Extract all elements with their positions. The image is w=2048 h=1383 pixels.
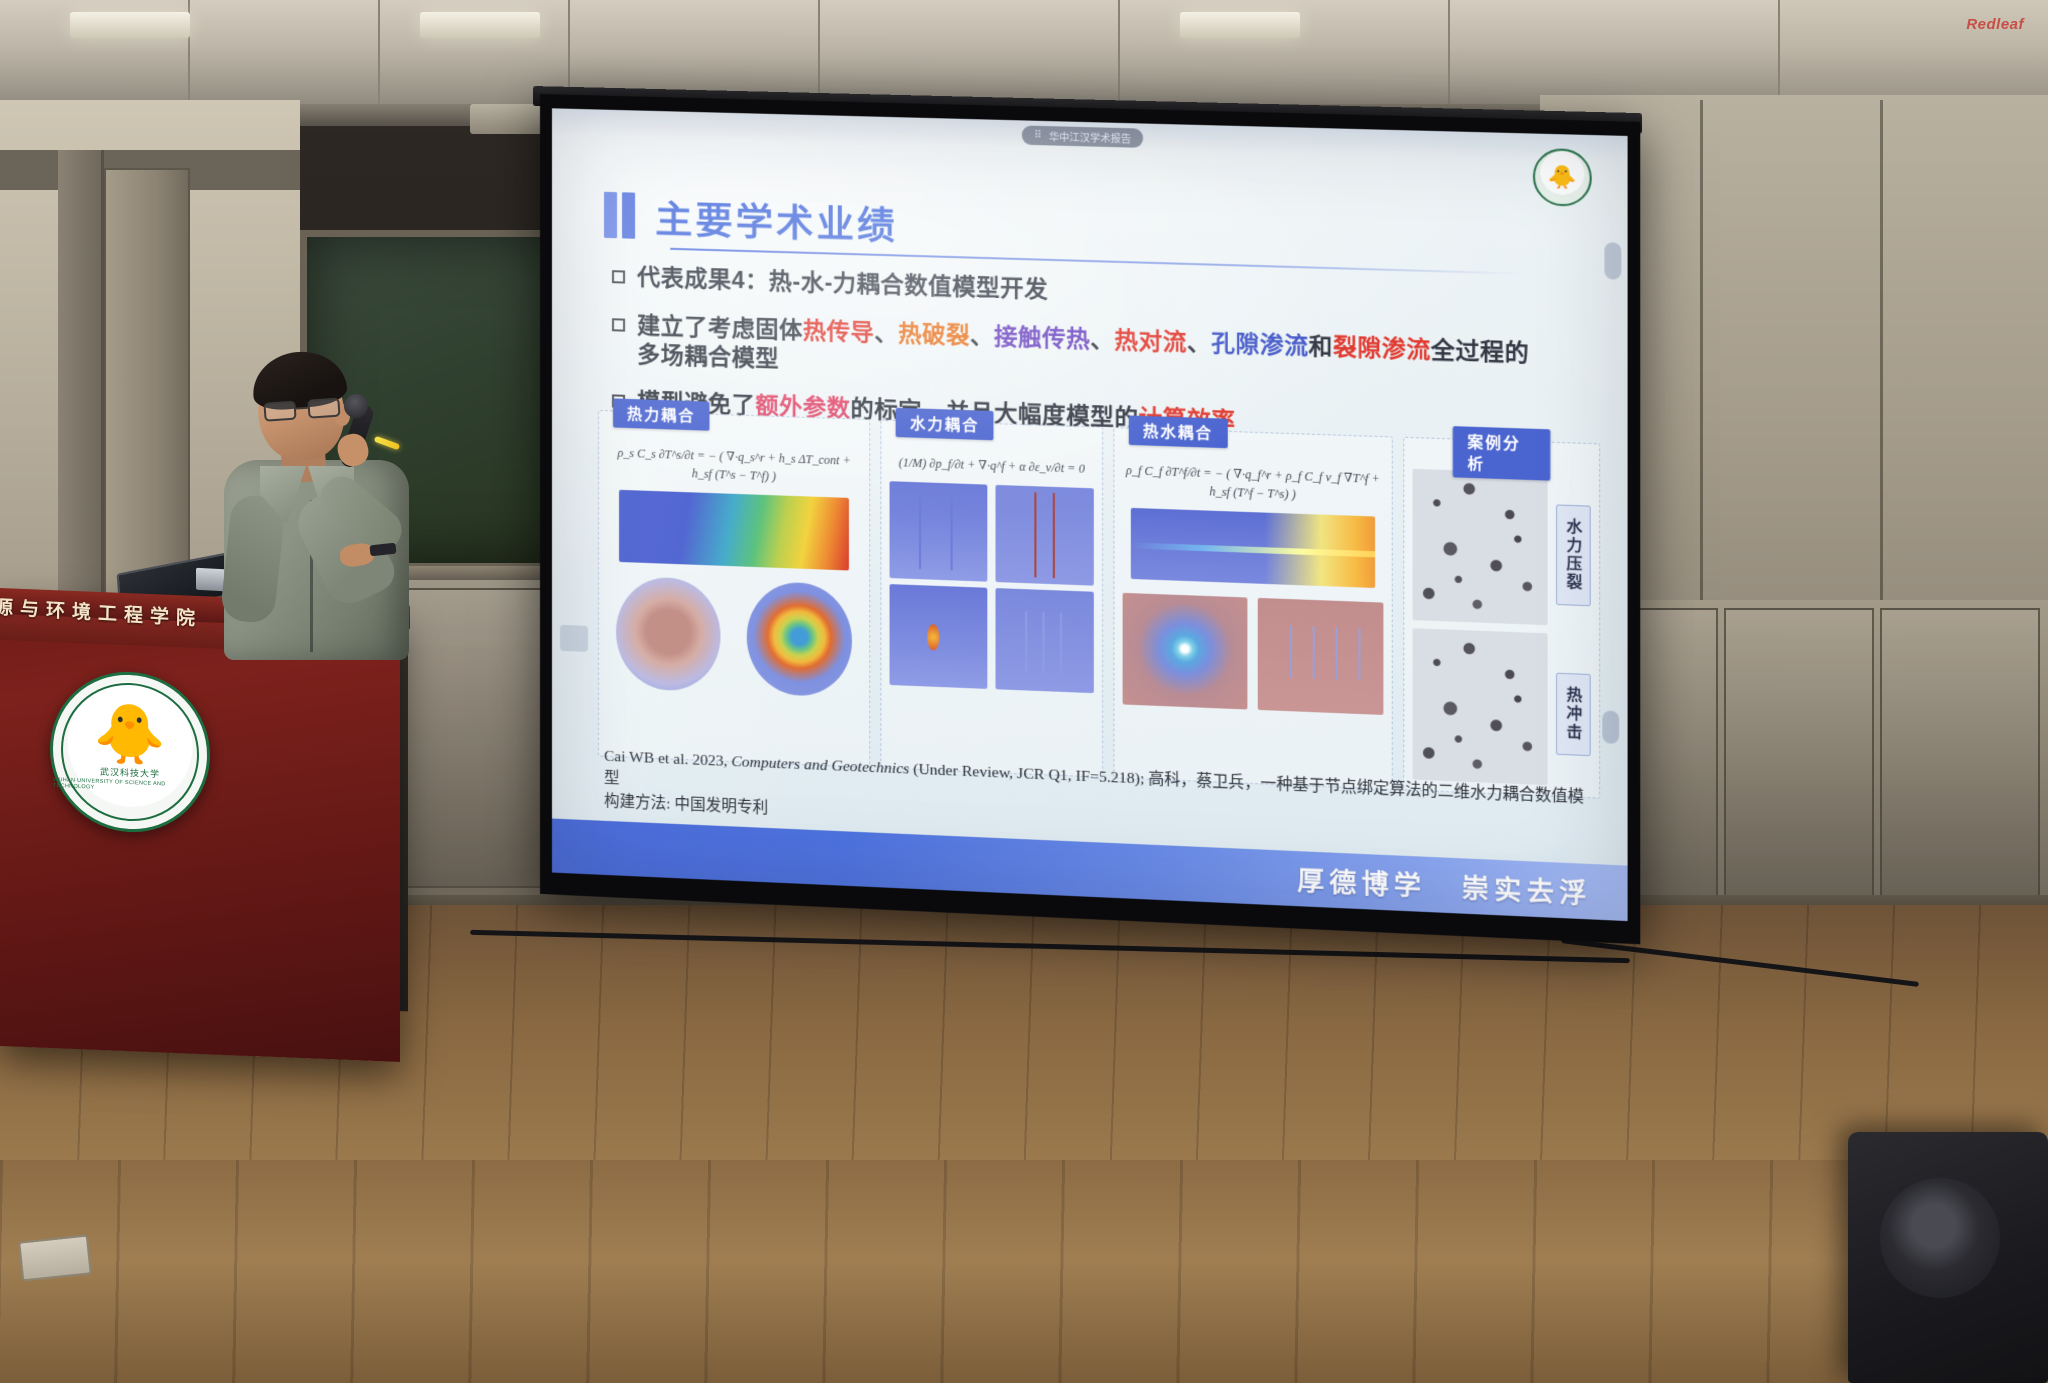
university-crest-icon: 🐥 <box>1533 148 1592 207</box>
bullet-item-2: 建立了考虑固体热传导、热破裂、接触传热、热对流、孔隙渗流和裂隙渗流全过程的多场耦… <box>612 310 1546 398</box>
figure-ellipse-stress <box>616 576 721 692</box>
panel-tag: 热水耦合 <box>1129 415 1228 448</box>
cabinet-door[interactable] <box>1880 608 2040 918</box>
bullet-text-run: 代表成果4：热-水-力耦合数值模型开发 <box>637 264 1048 303</box>
citation-line-2: 构建方法: 中国发明专利 <box>604 792 768 816</box>
panel-thermo-mechanical: 热力耦合 ρ_s C_s ∂T^s/∂t = − ( ∇·q_s^r + h_s… <box>598 410 871 768</box>
figure-fracture-network <box>996 588 1094 693</box>
figure-thermal-plume <box>1131 508 1376 588</box>
panel-formula: ρ_s C_s ∂T^s/∂t = − ( ∇·q_s^r + h_s ΔT_c… <box>607 443 861 488</box>
glasses-lens-right <box>307 398 340 419</box>
presenter-chip-label: 华中江汉学术报告 <box>1049 128 1131 145</box>
motto-left: 厚德博学 <box>1297 860 1426 904</box>
panel-thermo-hydro: 热水耦合 ρ_f C_f ∂T^f/∂t = − ( ∇·q_f^r + ρ_f… <box>1113 427 1393 790</box>
laser-pointer <box>374 436 400 451</box>
bullet-text-run: 、 <box>874 319 898 346</box>
figure-ellipse-thermal-rings <box>747 581 852 698</box>
projector-brand-label: Redleaf <box>1966 16 2024 33</box>
glasses-bridge <box>296 407 308 410</box>
title-accent-bars-icon <box>604 192 635 239</box>
fracture-line <box>1052 493 1054 579</box>
bullet-text-run: 裂隙渗流 <box>1333 333 1431 363</box>
lectern <box>0 596 400 1062</box>
bullet-text-run: 孔隙渗流 <box>1211 329 1308 359</box>
floor-foreground <box>0 1160 2048 1383</box>
fracture-line <box>1336 628 1338 680</box>
panel-tag: 案例分析 <box>1453 426 1550 481</box>
figure-temperature-field <box>619 490 849 571</box>
bullet-text-run: 热破裂 <box>898 320 970 348</box>
figure-pressure-field-a <box>890 481 988 581</box>
cabinet-door[interactable] <box>1724 608 1874 918</box>
glasses-lens-left <box>263 401 296 422</box>
panel-tag: 热力耦合 <box>613 398 709 430</box>
figure-fracture-initiation <box>890 584 988 689</box>
fracture-line <box>1035 492 1037 578</box>
motto-right: 崇实去浮 <box>1462 867 1592 911</box>
bullet-text-run: 、 <box>1090 326 1114 353</box>
slide-scroll-handle-lower[interactable] <box>1602 710 1619 744</box>
slide-scroll-handle[interactable] <box>1604 242 1621 279</box>
hotspot-marker <box>927 624 939 651</box>
emblem-ring <box>61 680 199 824</box>
bullet-text-run: 建立了考虑固体 <box>637 312 803 343</box>
bullet-square-icon <box>612 318 625 331</box>
presenter <box>222 348 432 648</box>
bullet-text-run: 热传导 <box>803 317 874 345</box>
panel-case-study: 案例分析 水力压裂 热冲击 <box>1403 437 1600 799</box>
panel-tag: 水力耦合 <box>896 408 994 441</box>
panel-hydro-mechanical: 水力耦合 (1/M) ∂p_f/∂t + ∇·q^f + α ∂ε_v/∂t =… <box>881 419 1103 777</box>
figure-rock-microstructure-b <box>1413 628 1548 785</box>
fracture-line <box>1358 629 1360 681</box>
fracture-line <box>1290 626 1292 678</box>
crest-swan-glyph: 🐥 <box>1548 165 1577 189</box>
fracture-line <box>1043 612 1045 673</box>
figure-row <box>607 576 861 698</box>
figure-row <box>1122 593 1383 715</box>
bullet-text-run: 、 <box>1187 329 1211 356</box>
projected-slide-surface: ⠿ 华中江汉学术报告 🐥 主要学术业绩 代表成果4：热-水 <box>552 108 1628 921</box>
bullet-square-icon <box>612 270 625 283</box>
side-tag-hydraulic-fracturing: 水力压裂 <box>1556 504 1591 606</box>
bullet-text-run: 接触传热 <box>994 323 1090 352</box>
panel-formula: (1/M) ∂p_f/∂t + ∇·q^f + α ∂ε_v/∂t = 0 <box>890 453 1094 478</box>
lecture-hall-photo: Redleaf ⠿ 华中江汉学术报告 <box>0 0 2048 1383</box>
floor-outlet-plate[interactable] <box>18 1234 92 1281</box>
figure-rock-microstructure-a <box>1413 469 1548 625</box>
fracture-line <box>1025 611 1027 672</box>
grid-dots-icon: ⠿ <box>1034 130 1043 141</box>
fracture-line <box>950 493 952 571</box>
presenter-status-chip: ⠿ 华中江汉学术报告 <box>1022 125 1143 147</box>
bullet-text-run: 、 <box>970 322 994 349</box>
loudspeaker-cone <box>1880 1178 2000 1298</box>
fracture-line <box>1313 627 1315 679</box>
fracture-line <box>919 492 921 570</box>
bullet-text: 代表成果4：热-水-力耦合数值模型开发 <box>637 263 1048 304</box>
presentation-slide: ⠿ 华中江汉学术报告 🐥 主要学术业绩 代表成果4：热-水 <box>552 108 1628 921</box>
slide-figure-panels: 热力耦合 ρ_s C_s ∂T^s/∂t = − ( ∇·q_s^r + h_s… <box>598 410 1600 799</box>
bullet-text-run: 和 <box>1309 332 1333 359</box>
slide-side-control[interactable] <box>560 625 588 652</box>
figure-row <box>890 584 1094 693</box>
figure-injection-temperature <box>1122 593 1247 710</box>
ceiling-light <box>420 12 540 38</box>
slide-title: 主要学术业绩 <box>655 189 898 250</box>
figure-pressure-field-b <box>996 485 1094 586</box>
figure-heat-extraction <box>1258 598 1384 715</box>
projector-screen: ⠿ 华中江汉学术报告 🐥 主要学术业绩 代表成果4：热-水 <box>540 94 1640 944</box>
bullet-text: 建立了考虑固体热传导、热破裂、接触传热、热对流、孔隙渗流和裂隙渗流全过程的多场耦… <box>637 311 1545 398</box>
case-study-side-tags: 水力压裂 热冲击 <box>1556 474 1591 787</box>
ceiling-light <box>1180 12 1300 38</box>
slide-title-row: 主要学术业绩 <box>604 188 898 251</box>
side-tag-thermal-shock: 热冲击 <box>1556 673 1591 756</box>
fracture-line <box>1060 613 1062 674</box>
bullet-text-run: 热对流 <box>1114 326 1187 355</box>
ceiling-light <box>70 12 190 38</box>
figure-row <box>890 481 1094 585</box>
door-frame <box>58 150 104 630</box>
panel-formula: ρ_f C_f ∂T^f/∂t = − ( ∇·q_f^r + ρ_f C_f … <box>1122 461 1383 507</box>
